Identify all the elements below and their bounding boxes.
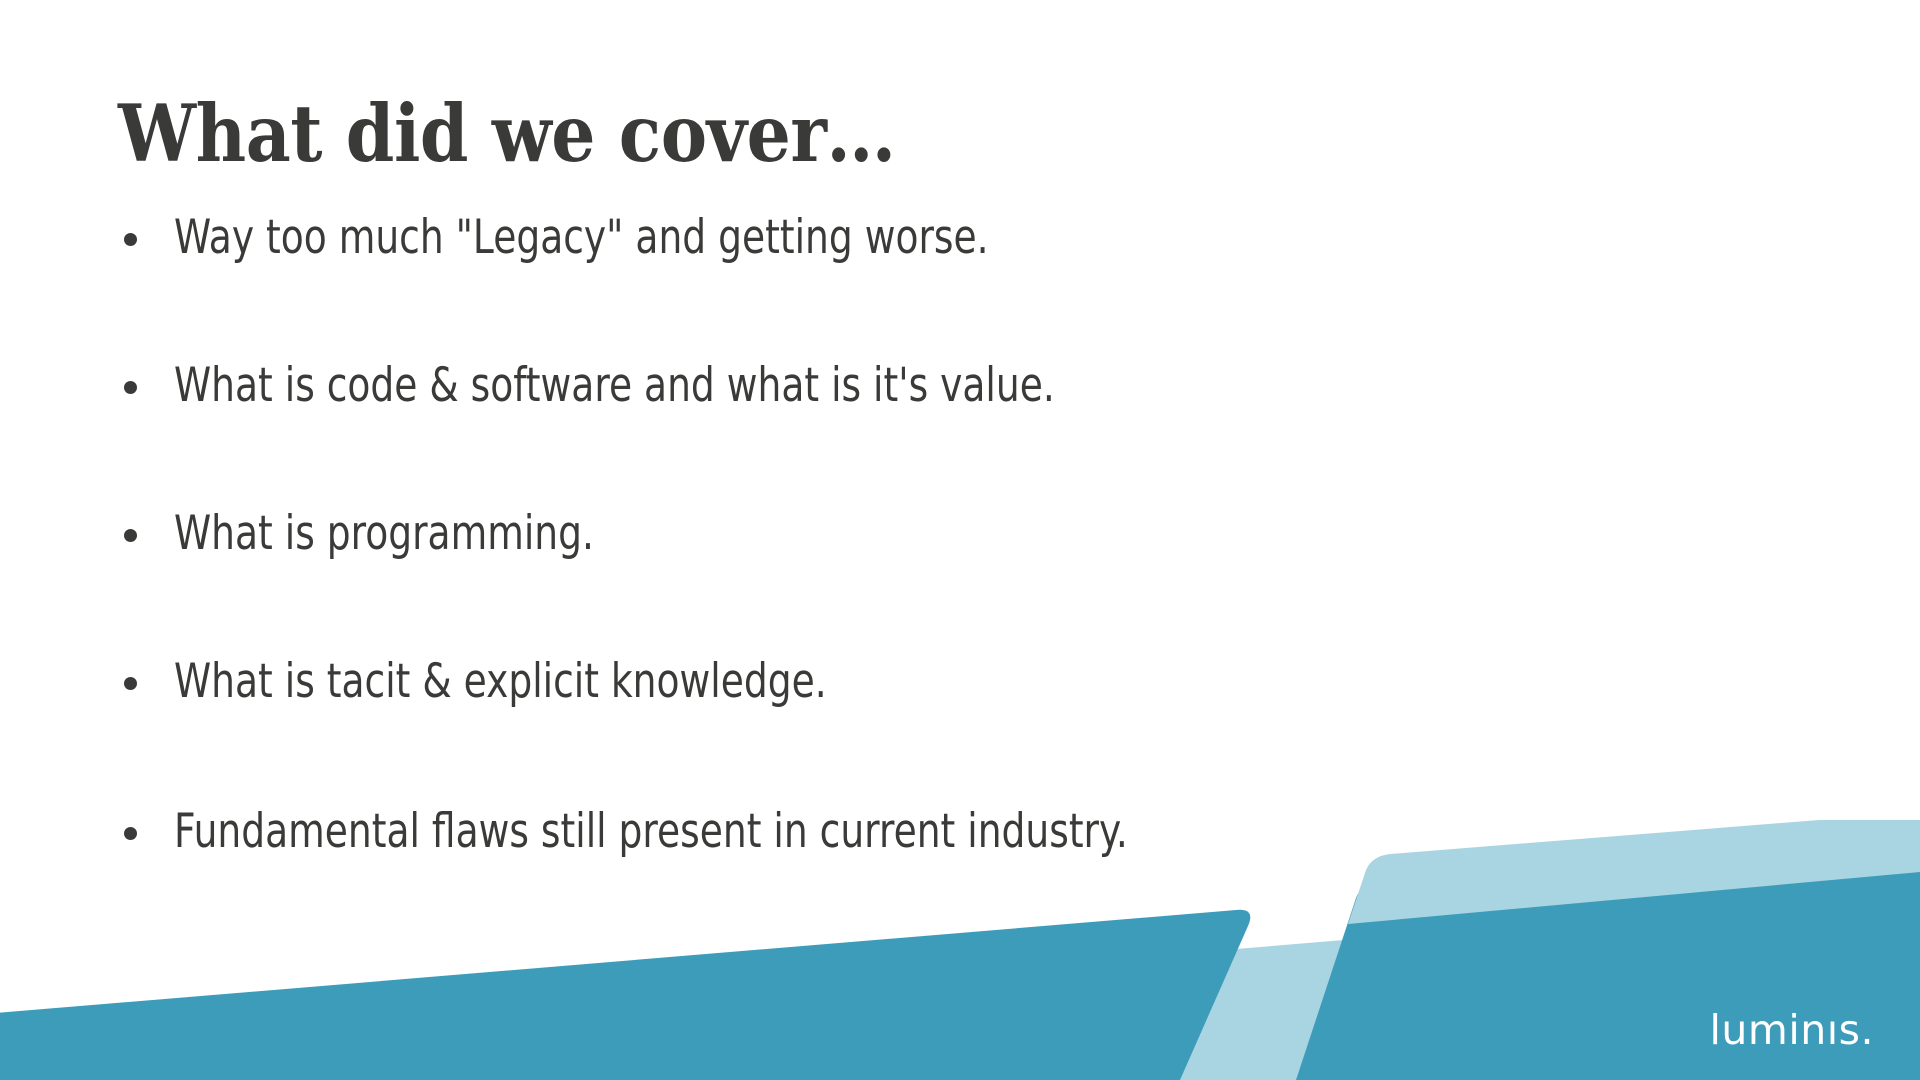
page-title: What did we cover…	[118, 91, 896, 176]
list-item: What is programming.	[120, 504, 1880, 564]
bullet-dot-icon	[120, 667, 174, 697]
list-item-label: Fundamental flaws still present in curre…	[174, 806, 1128, 859]
slide-canvas: What did we cover… Way too much "Legacy"…	[0, 0, 1920, 1080]
list-item: What is code & software and what is it's…	[120, 356, 1880, 416]
luminis-logo: luminıs.	[1710, 1006, 1874, 1054]
list-item: What is tacit & explicit knowledge.	[120, 652, 1880, 712]
bullet-dot-icon	[120, 371, 174, 401]
list-item-label: What is code & software and what is it's…	[174, 360, 1055, 413]
bullet-dot-icon	[120, 519, 174, 549]
list-item: Way too much "Legacy" and getting worse.	[120, 208, 1880, 268]
bullet-dot-icon	[120, 223, 174, 253]
list-item: Fundamental flaws still present in curre…	[120, 802, 1880, 862]
footer-panel-left	[0, 910, 1250, 1080]
list-item-label: Way too much "Legacy" and getting worse.	[174, 212, 989, 265]
footer-band-light	[0, 892, 1920, 1080]
list-item-label: What is tacit & explicit knowledge.	[174, 656, 827, 709]
bullet-dot-icon	[120, 817, 174, 847]
list-item-label: What is programming.	[174, 508, 594, 561]
